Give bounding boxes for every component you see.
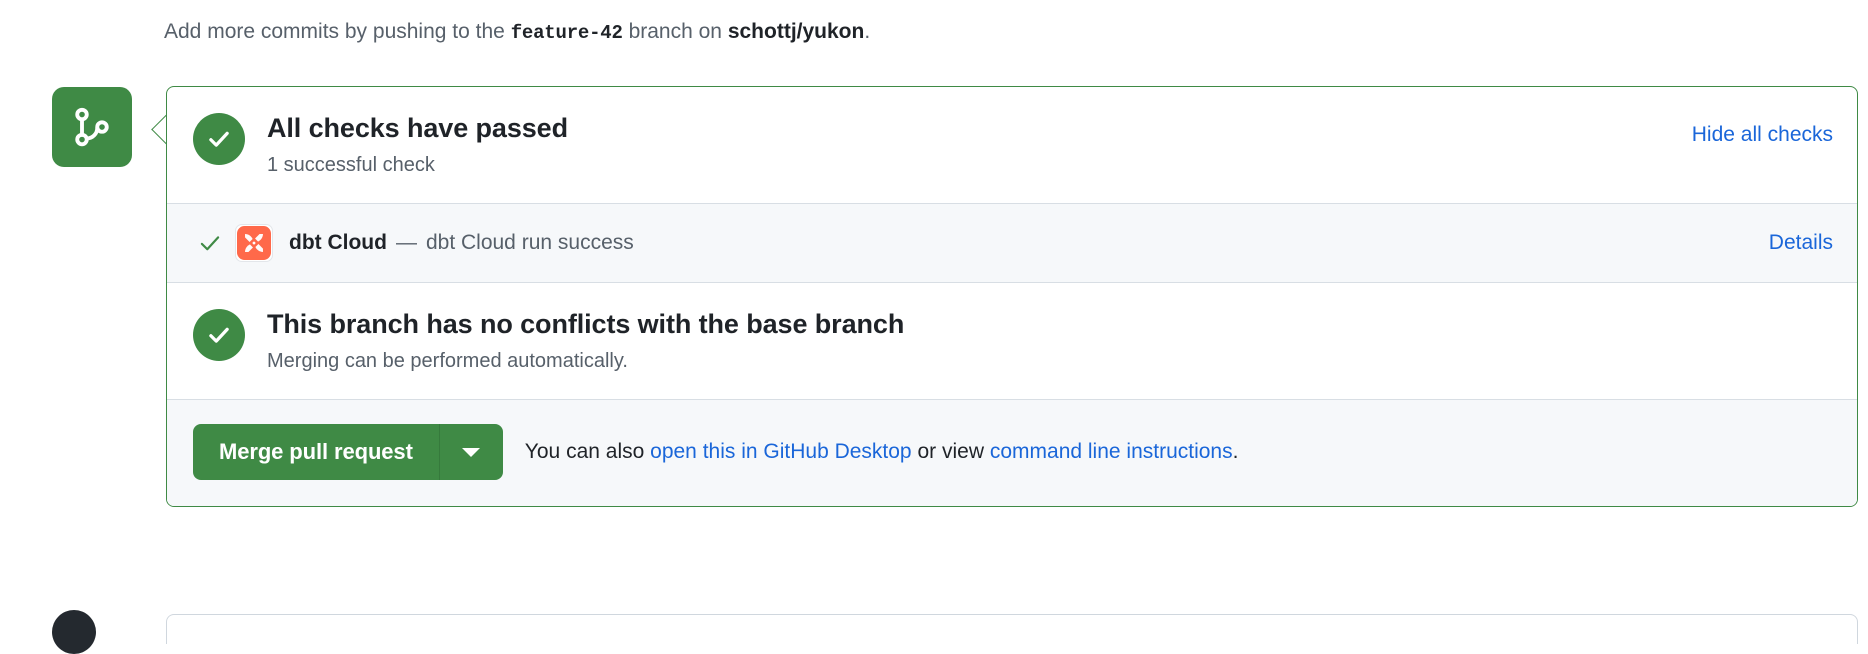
push-commits-hint: Add more commits by pushing to the featu… bbox=[164, 18, 870, 47]
avatar bbox=[52, 610, 96, 654]
command-line-instructions-link[interactable]: command line instructions bbox=[990, 440, 1233, 463]
check-icon bbox=[193, 230, 227, 256]
footer-note-middle: or view bbox=[917, 440, 984, 463]
checks-summary-section: All checks have passed 1 successful chec… bbox=[167, 87, 1857, 203]
check-run-name: dbt Cloud bbox=[289, 229, 387, 257]
merge-action-footer: Merge pull request You can also open thi… bbox=[167, 400, 1857, 506]
check-run-description: dbt Cloud run success bbox=[426, 229, 634, 257]
merge-status-box: All checks have passed 1 successful chec… bbox=[166, 86, 1858, 507]
push-hint-prefix: Add more commits by pushing to the bbox=[164, 20, 505, 43]
merge-button-group: Merge pull request bbox=[193, 424, 503, 480]
dbt-logo-icon bbox=[235, 224, 273, 262]
conflicts-title: This branch has no conflicts with the ba… bbox=[267, 307, 1833, 341]
branch-name: feature-42 bbox=[511, 22, 623, 44]
conflicts-subtitle: Merging can be performed automatically. bbox=[267, 347, 1833, 375]
merge-footer-note: You can also open this in GitHub Desktop… bbox=[525, 438, 1239, 466]
checks-summary-subtitle: 1 successful check bbox=[267, 151, 1672, 179]
git-merge-icon bbox=[72, 107, 112, 147]
repository-name: schottj/yukon bbox=[728, 20, 865, 43]
merge-pull-request-button[interactable]: Merge pull request bbox=[193, 424, 439, 480]
check-circle-icon bbox=[193, 309, 245, 361]
footer-note-suffix: . bbox=[1233, 440, 1239, 463]
github-desktop-link[interactable]: open this in GitHub Desktop bbox=[650, 440, 911, 463]
merge-state-badge bbox=[52, 87, 132, 167]
check-run-details-link[interactable]: Details bbox=[1769, 229, 1833, 257]
chevron-down-icon bbox=[462, 448, 480, 457]
check-circle-icon bbox=[193, 113, 245, 165]
push-hint-suffix: . bbox=[864, 20, 870, 43]
push-hint-middle: branch on bbox=[629, 20, 722, 43]
hide-all-checks-link[interactable]: Hide all checks bbox=[1692, 121, 1833, 149]
checks-summary-title: All checks have passed bbox=[267, 111, 1672, 145]
check-run-separator: — bbox=[396, 229, 417, 257]
conflicts-section: This branch has no conflicts with the ba… bbox=[167, 283, 1857, 399]
merge-options-dropdown-button[interactable] bbox=[439, 424, 503, 480]
next-timeline-box bbox=[166, 614, 1858, 644]
footer-note-prefix: You can also bbox=[525, 440, 645, 463]
check-run-row[interactable]: dbt Cloud — dbt Cloud run success Detail… bbox=[167, 204, 1857, 282]
